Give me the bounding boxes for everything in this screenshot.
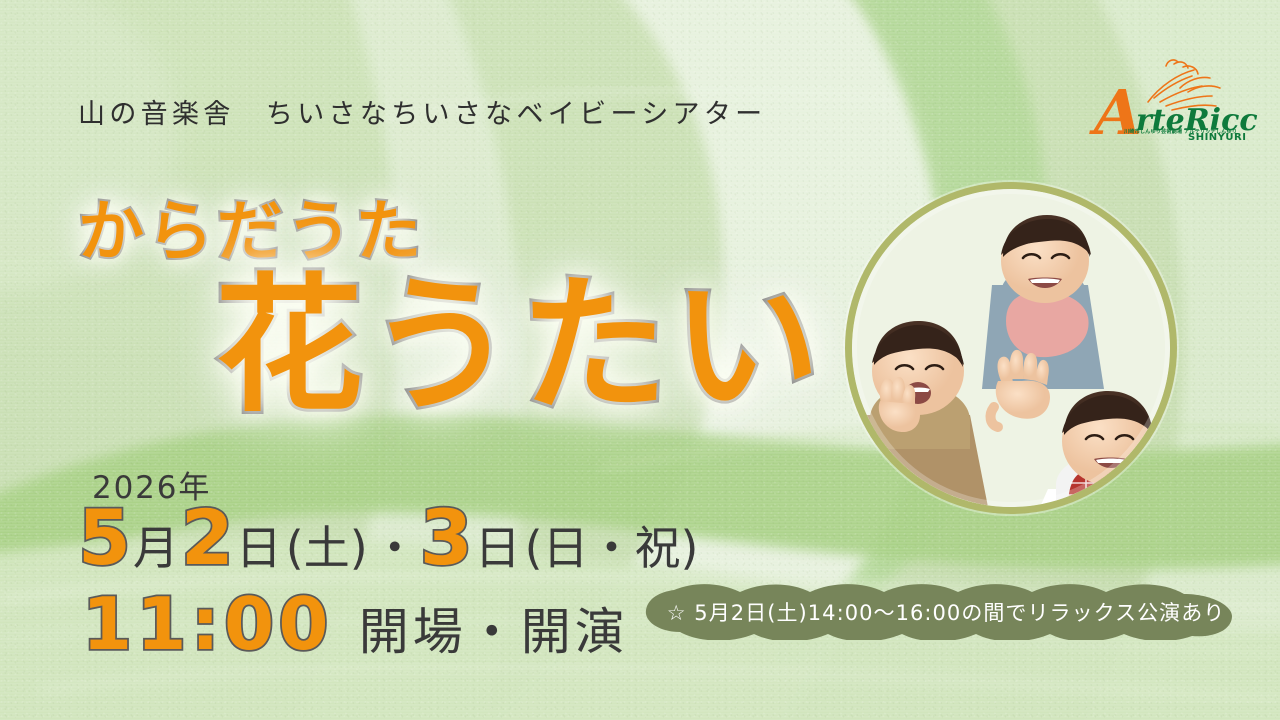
photo-inner [852,189,1170,507]
time-row: 11:00 開場・開演 [82,588,629,660]
time-label: 開場・開演 [359,607,629,657]
date-month-label: 月 [133,525,179,571]
date-day1-weekday: (土) [286,525,368,571]
logo-mark-icon: A rteRicca SHINYURI [1088,58,1258,150]
date-day1-number: 2 [181,500,234,576]
date-separator: ・ [372,525,418,571]
photo-illustration [852,189,1170,507]
poster-canvas: 山の音楽舎 ちいさなちいさなベイビーシアター A rteRicca SHIN [0,0,1280,720]
date-day1-label: 日 [236,525,282,571]
logo-sub-japanese: 川崎市しんゆり芸術劇場 アルテリッチしんゆり [1124,128,1237,135]
relax-performance-text: ☆ 5月2日(土)14:00〜16:00の間でリラックス公演あり [640,584,1252,640]
header-subtitle: 山の音楽舎 ちいさなちいさなベイビーシアター [78,92,767,131]
babies-photo [845,182,1177,514]
date-day2-label: 日 [475,525,521,571]
logo-letter-a: A [1089,76,1142,149]
time-value: 11:00 [82,588,333,660]
date-month-number: 5 [78,500,131,576]
date-row: 5 月 2 日 (土) ・ 3 日 (日・祝) [78,500,700,576]
date-day2-number: 3 [420,500,473,576]
relax-performance-banner: ☆ 5月2日(土)14:00〜16:00の間でリラックス公演あり [640,584,1252,640]
date-day2-weekday: (日・祝) [525,525,699,571]
title-main: 花うたい [215,272,825,420]
arte-ricca-logo[interactable]: A rteRicca SHINYURI 川崎市しんゆり芸術劇場 アルテリッチしん… [1088,58,1258,150]
